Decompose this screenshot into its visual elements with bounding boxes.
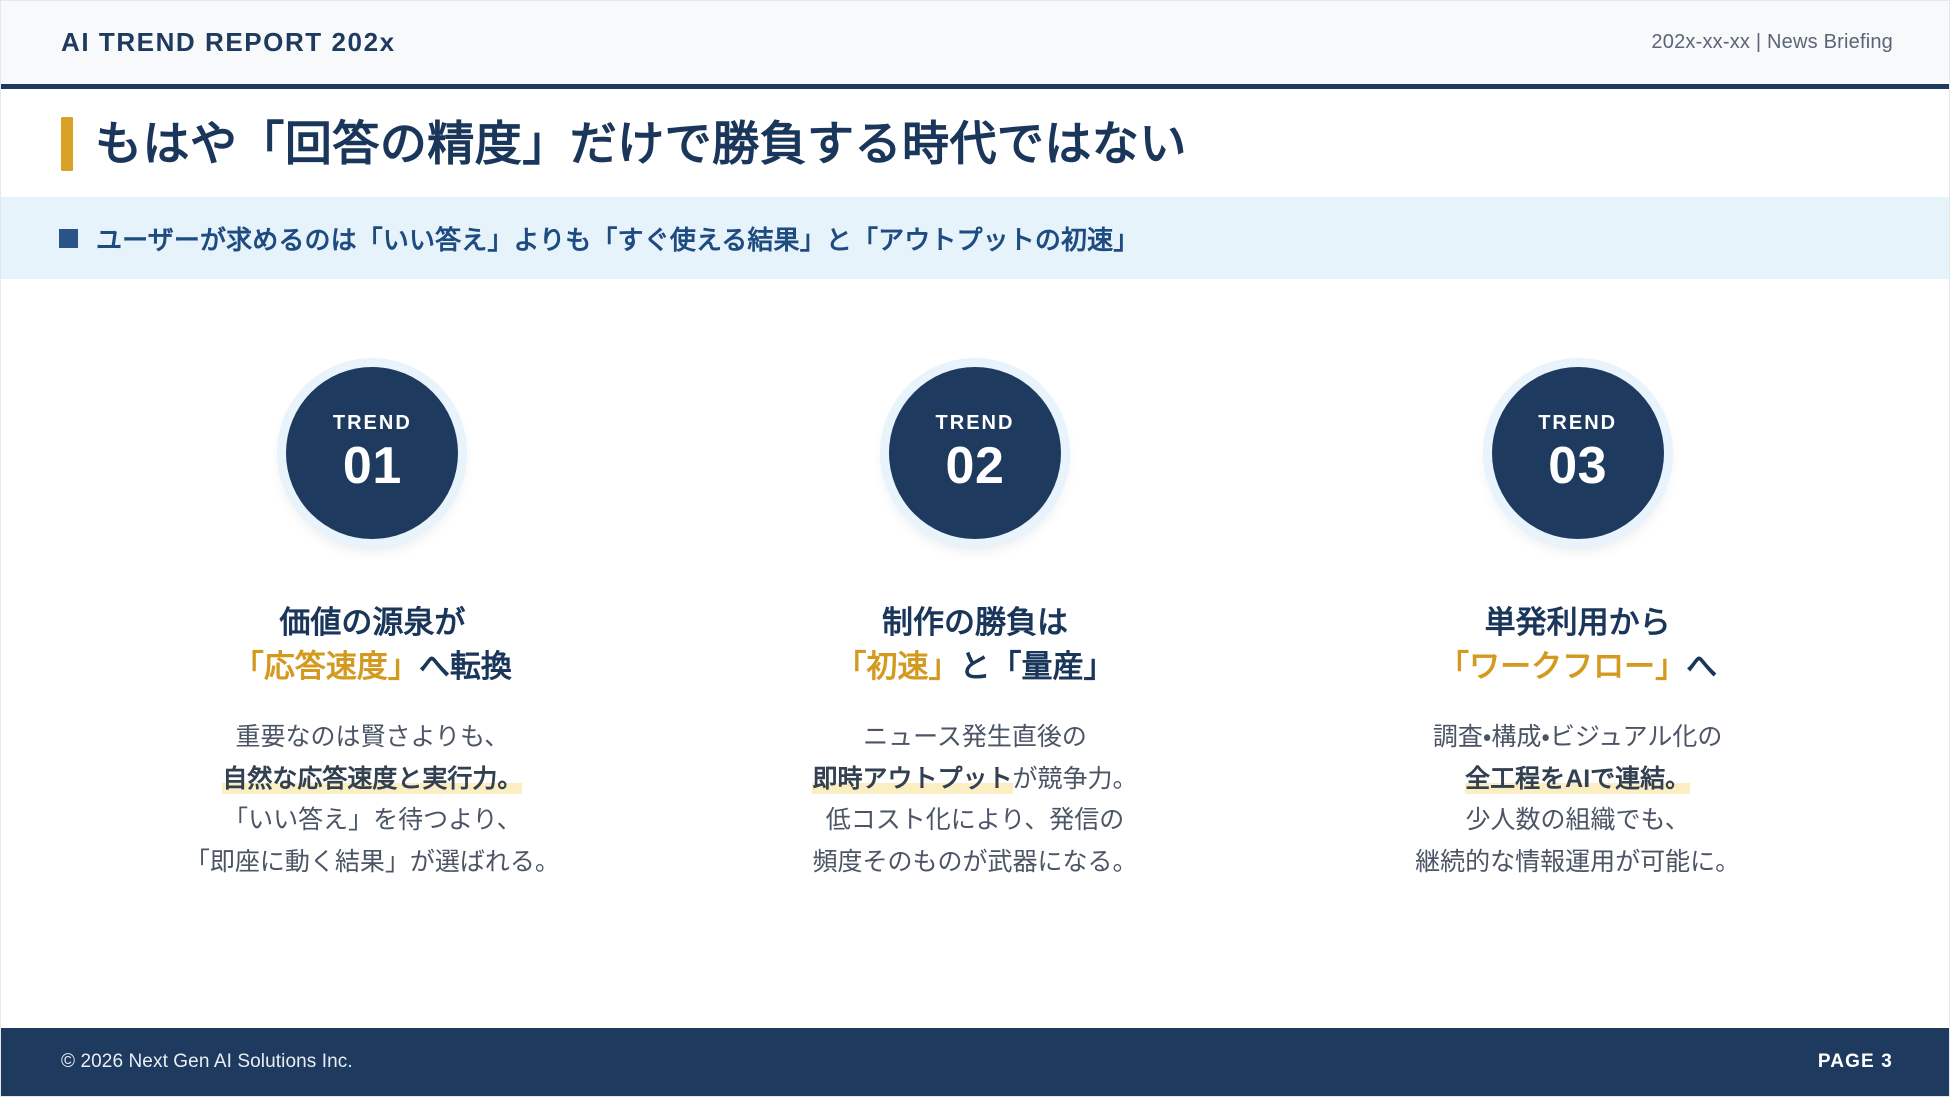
trend-heading-02: 制作の勝負は 「初速」と「量産」 bbox=[836, 601, 1115, 689]
trend-heading-accent: 「応答速度」 bbox=[233, 649, 419, 684]
trend-body-01: 重要なのは賢さよりも、 自然な応答速度と実行力。 「いい答え」を待つより、 「即… bbox=[185, 717, 560, 883]
trend-heading-tail: と「量産」 bbox=[960, 649, 1115, 684]
trend-badge-03: TREND 03 bbox=[1492, 367, 1664, 539]
trend-badge-number: 03 bbox=[1548, 439, 1607, 494]
footer-page-number: PAGE 3 bbox=[1818, 1051, 1893, 1073]
trend-heading-line1: 制作の勝負は bbox=[836, 601, 1115, 645]
trend-heading-line2: 「初速」と「量産」 bbox=[836, 645, 1115, 689]
trend-heading-tail: へ転換 bbox=[419, 649, 512, 684]
trend-badge-number: 01 bbox=[343, 439, 402, 494]
trend-heading-accent: 「初速」 bbox=[836, 649, 960, 684]
trend-body-highlight: 自然な応答速度と実行力。 bbox=[222, 765, 522, 794]
trend-card-03: TREND 03 単発利用から 「ワークフロー」へ 調査・構成・ビジュアル化の … bbox=[1276, 367, 1879, 883]
trend-body-line: 継続的な情報運用が可能に。 bbox=[1415, 842, 1740, 884]
trend-badge-label: TREND bbox=[1538, 413, 1617, 433]
square-bullet-icon bbox=[59, 229, 78, 248]
slide-header: AI TREND REPORT 202x 202x-xx-xx | News B… bbox=[1, 1, 1949, 89]
trend-badge-label: TREND bbox=[936, 413, 1015, 433]
trend-heading-line2: 「ワークフロー」へ bbox=[1438, 645, 1717, 689]
trend-heading-line2: 「応答速度」へ転換 bbox=[233, 645, 512, 689]
trend-card-01: TREND 01 価値の源泉が 「応答速度」へ転換 重要なのは賢さよりも、 自然… bbox=[71, 367, 674, 883]
trend-body-line: 重要なのは賢さよりも、 bbox=[185, 717, 560, 759]
trend-body-line: ニュース発生直後の bbox=[812, 717, 1137, 759]
trend-heading-tail: へ bbox=[1686, 649, 1717, 684]
trend-body-line: 自然な応答速度と実行力。 bbox=[185, 759, 560, 801]
report-meta: 202x-xx-xx | News Briefing bbox=[1651, 31, 1893, 54]
trend-body-highlight: 即時アウトプット bbox=[812, 765, 1012, 794]
trend-body-line: 頻度そのものが武器になる。 bbox=[812, 842, 1137, 884]
trend-body-line: 即時アウトプットが競争力。 bbox=[812, 759, 1137, 801]
trend-body-highlight: 全工程をAIで連結。 bbox=[1465, 765, 1690, 794]
trend-body-line: 少人数の組織でも、 bbox=[1415, 800, 1740, 842]
trend-body-02: ニュース発生直後の 即時アウトプットが競争力。 低コスト化により、発信の 頻度そ… bbox=[812, 717, 1137, 883]
trend-heading-01: 価値の源泉が 「応答速度」へ転換 bbox=[233, 601, 512, 689]
subtitle-band: ユーザーが求めるのは「いい答え」よりも「すぐ使える結果」と「アウトプットの初速」 bbox=[1, 197, 1949, 279]
trend-heading-line1: 価値の源泉が bbox=[233, 601, 512, 645]
trend-badge-01: TREND 01 bbox=[286, 367, 458, 539]
trend-body-line: 「いい答え」を待つより、 bbox=[185, 800, 560, 842]
title-accent-bar bbox=[61, 117, 73, 171]
footer-copyright: © 2026 Next Gen AI Solutions Inc. bbox=[61, 1051, 353, 1073]
trend-heading-03: 単発利用から 「ワークフロー」へ bbox=[1438, 601, 1717, 689]
trends-container: TREND 01 価値の源泉が 「応答速度」へ転換 重要なのは賢さよりも、 自然… bbox=[1, 279, 1949, 1028]
slide: AI TREND REPORT 202x 202x-xx-xx | News B… bbox=[0, 0, 1950, 1097]
trend-body-rest: が競争力。 bbox=[1013, 765, 1138, 793]
trend-badge-number: 02 bbox=[946, 439, 1005, 494]
trend-body-line: 「即座に動く結果」が選ばれる。 bbox=[185, 842, 560, 884]
trend-body-line: 全工程をAIで連結。 bbox=[1415, 759, 1740, 801]
trend-badge-02: TREND 02 bbox=[889, 367, 1061, 539]
trend-badge-label: TREND bbox=[333, 413, 412, 433]
trend-body-line: 低コスト化により、発信の bbox=[812, 800, 1137, 842]
subtitle-text: ユーザーが求めるのは「いい答え」よりも「すぐ使える結果」と「アウトプットの初速」 bbox=[96, 220, 1139, 257]
trend-body-line: 調査・構成・ビジュアル化の bbox=[1415, 717, 1740, 759]
report-title: AI TREND REPORT 202x bbox=[61, 27, 396, 58]
trend-card-02: TREND 02 制作の勝負は 「初速」と「量産」 ニュース発生直後の 即時アウ… bbox=[674, 367, 1277, 883]
trend-heading-accent: 「ワークフロー」 bbox=[1438, 649, 1686, 684]
trend-heading-line1: 単発利用から bbox=[1438, 601, 1717, 645]
trend-body-03: 調査・構成・ビジュアル化の 全工程をAIで連結。 少人数の組織でも、 継続的な情… bbox=[1415, 717, 1740, 883]
page-title: もはや「回答の精度」だけで勝負する時代ではない bbox=[95, 118, 1187, 170]
page-title-row: もはや「回答の精度」だけで勝負する時代ではない bbox=[1, 89, 1949, 197]
slide-footer: © 2026 Next Gen AI Solutions Inc. PAGE 3 bbox=[1, 1028, 1949, 1096]
